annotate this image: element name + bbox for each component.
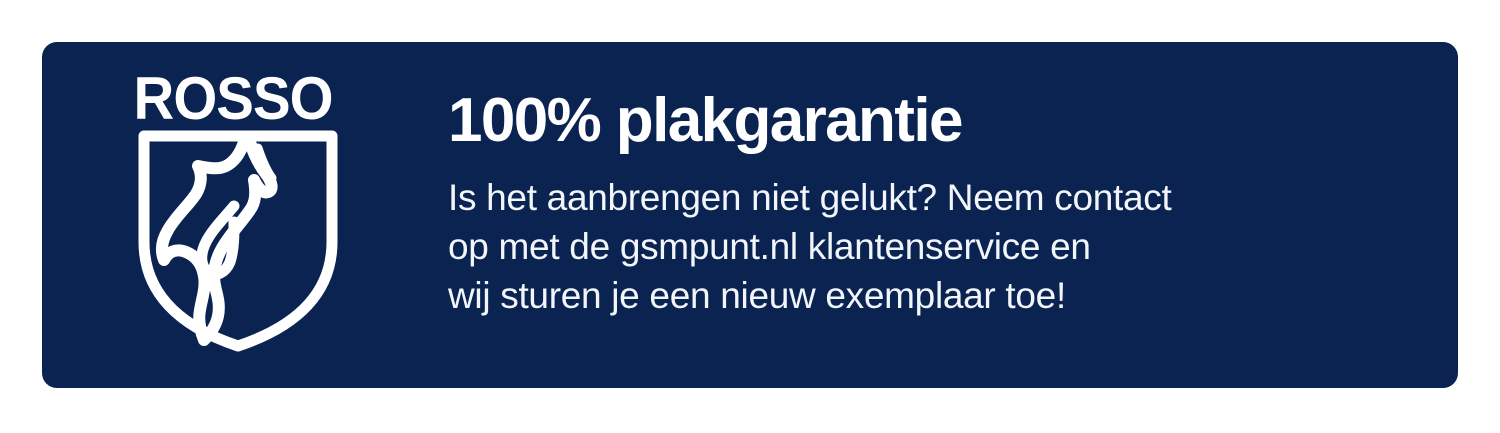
- banner-copy: 100% plakgarantie Is het aanbrengen niet…: [448, 87, 1408, 320]
- rosso-logo: ROSSO: [132, 68, 347, 358]
- banner-body-line-2: op met de gsmpunt.nl klantenservice en: [448, 222, 1408, 271]
- rosso-wordmark: ROSSO: [132, 68, 334, 130]
- plakgarantie-banner: ROSSO 100% plakgarantie Is het aanbrenge…: [42, 42, 1458, 388]
- banner-headline: 100% plakgarantie: [448, 87, 1408, 155]
- shield-horse-head-icon: [138, 130, 338, 352]
- screenshot-canvas: ROSSO 100% plakgarantie Is het aanbrenge…: [0, 0, 1500, 433]
- banner-body-line-3: wij sturen je een nieuw exemplaar toe!: [448, 271, 1408, 320]
- banner-body-line-1: Is het aanbrengen niet gelukt? Neem cont…: [448, 173, 1408, 222]
- banner-body-text: Is het aanbrengen niet gelukt? Neem cont…: [448, 155, 1408, 320]
